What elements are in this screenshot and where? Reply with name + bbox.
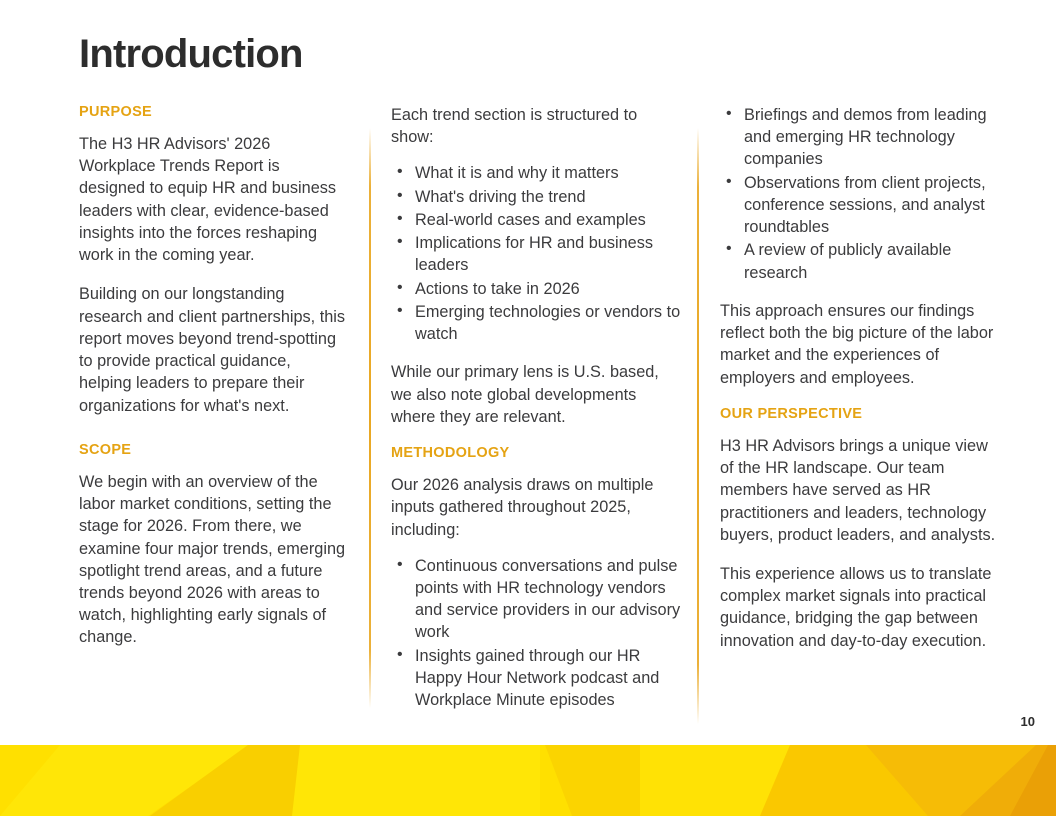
perspective-paragraph-1: H3 HR Advisors brings a unique view of t…	[720, 435, 998, 546]
section-heading-purpose: PURPOSE	[79, 104, 347, 120]
slide-introduction: Introduction PURPOSE The H3 HR Advisors'…	[0, 0, 1056, 816]
purpose-paragraph-2: Building on our longstanding research an…	[79, 283, 347, 416]
purpose-paragraph-1: The H3 HR Advisors' 2026 Workplace Trend…	[79, 133, 347, 266]
page-number: 10	[1021, 714, 1035, 729]
list-item: Actions to take in 2026	[415, 278, 681, 300]
footer-decorative-band	[0, 745, 1056, 816]
section-heading-scope: SCOPE	[79, 442, 347, 458]
lens-note: While our primary lens is U.S. based, we…	[391, 361, 681, 428]
list-item: Implications for HR and business leaders	[415, 232, 681, 276]
list-item: Real-world cases and examples	[415, 209, 681, 231]
methodology-bullet-list-continued: Briefings and demos from leading and eme…	[720, 104, 998, 284]
list-item: Continuous conversations and pulse point…	[415, 555, 681, 644]
columns-container: PURPOSE The H3 HR Advisors' 2026 Workpla…	[0, 104, 1056, 724]
column-two: Each trend section is structured to show…	[391, 104, 681, 727]
section-heading-our-perspective: OUR PERSPECTIVE	[720, 406, 998, 422]
list-item: What it is and why it matters	[415, 162, 681, 184]
spacer	[79, 434, 347, 442]
structure-bullet-list: What it is and why it matters What's dri…	[391, 162, 681, 345]
column-divider-2	[697, 128, 699, 724]
list-item: What's driving the trend	[415, 186, 681, 208]
section-heading-methodology: METHODOLOGY	[391, 445, 681, 461]
angled-yellow-band-graphic	[0, 745, 1056, 816]
list-item: Briefings and demos from leading and eme…	[744, 104, 998, 171]
approach-note: This approach ensures our findings refle…	[720, 300, 998, 389]
list-item: Observations from client projects, confe…	[744, 172, 998, 239]
methodology-bullet-list: Continuous conversations and pulse point…	[391, 555, 681, 712]
column-three: Briefings and demos from leading and eme…	[720, 104, 998, 669]
column-divider-1	[369, 128, 371, 708]
methodology-intro: Our 2026 analysis draws on multiple inpu…	[391, 474, 681, 541]
list-item: A review of publicly available research	[744, 239, 998, 283]
band-shape-4	[292, 745, 540, 816]
list-item: Insights gained through our HR Happy Hou…	[415, 645, 681, 712]
page-title: Introduction	[79, 32, 303, 76]
list-item: Emerging technologies or vendors to watc…	[415, 301, 681, 345]
structure-intro: Each trend section is structured to show…	[391, 104, 681, 148]
perspective-paragraph-2: This experience allows us to translate c…	[720, 563, 998, 652]
column-one: PURPOSE The H3 HR Advisors' 2026 Workpla…	[79, 104, 347, 666]
scope-paragraph-1: We begin with an overview of the labor m…	[79, 471, 347, 649]
